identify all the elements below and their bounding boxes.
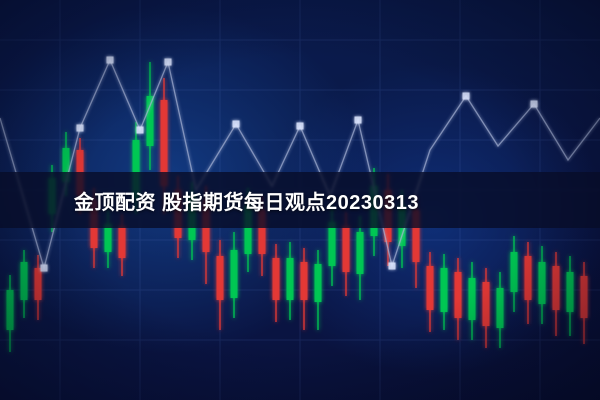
title-banner: 金顶配资 股指期货每日观点20230313 <box>0 172 600 228</box>
stock-chart-banner: 金顶配资 股指期货每日观点20230313 <box>0 0 600 400</box>
page-title: 金顶配资 股指期货每日观点20230313 <box>0 186 419 215</box>
